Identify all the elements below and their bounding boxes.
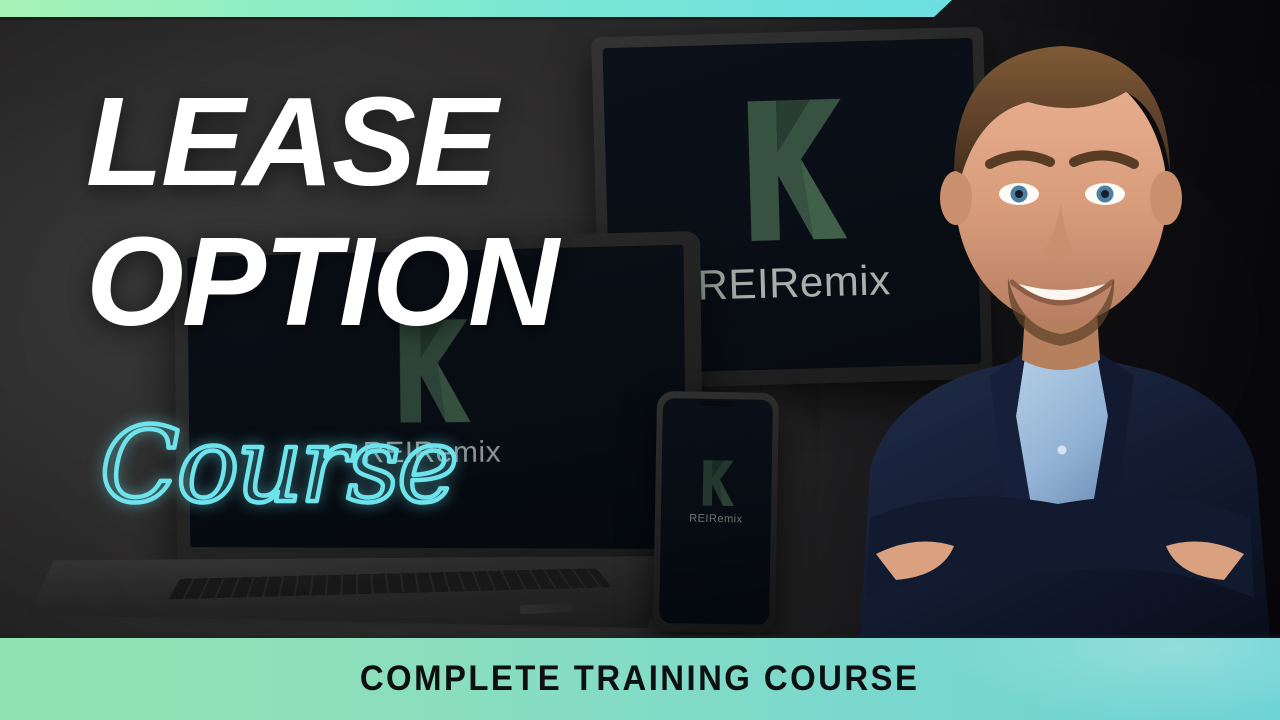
phone-screen: REIRemix <box>659 398 773 625</box>
bottom-banner-glow <box>860 638 1280 720</box>
bottom-banner: COMPLETE TRAINING COURSE <box>0 638 1280 720</box>
video-thumbnail: REIRemix REIRemix <box>0 0 1280 720</box>
brand-lockup-phone: REIRemix <box>670 457 764 526</box>
phone-notch <box>701 401 735 407</box>
brand-wordmark-phone: REIRemix <box>689 512 743 525</box>
shirt-button <box>1058 446 1067 455</box>
headline-script-block: Course <box>92 393 492 543</box>
headline-line-1: LEASE <box>86 84 557 200</box>
headline-block: LEASE OPTION <box>86 84 557 340</box>
ear-left <box>940 171 972 225</box>
ear-right <box>1150 171 1182 225</box>
headline-script-text: Course <box>100 404 456 526</box>
presenter-photo <box>830 0 1280 638</box>
headline-line-2: OPTION <box>86 224 557 340</box>
device-phone: REIRemix <box>653 391 779 633</box>
bottom-banner-text: COMPLETE TRAINING COURSE <box>360 659 919 699</box>
reiremix-r-logo-icon <box>695 457 738 508</box>
top-accent-bar-shadow <box>0 17 952 21</box>
top-accent-bar <box>0 0 952 17</box>
